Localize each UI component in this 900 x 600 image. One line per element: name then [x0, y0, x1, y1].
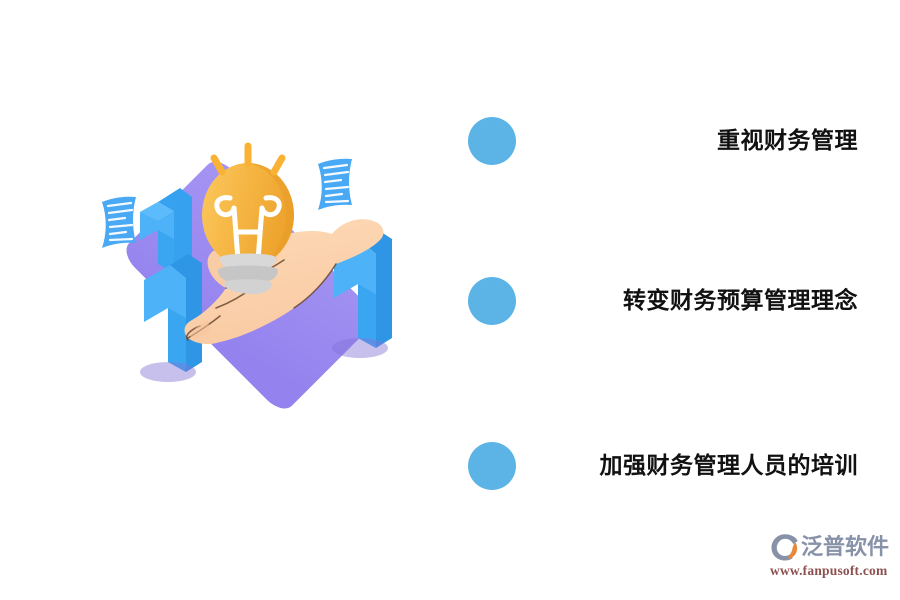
bullet-dot-icon — [468, 277, 516, 325]
watermark-brand-row: 泛普软件 — [770, 530, 890, 564]
document-right — [318, 159, 352, 210]
list-item[interactable]: 转变财务预算管理理念 — [468, 275, 868, 327]
list-item[interactable]: 加强财务管理人员的培训 — [468, 440, 868, 492]
watermark-url-text: www.fanpusoft.com — [770, 563, 890, 579]
watermark-logo: 泛普软件 www.fanpusoft.com — [770, 530, 890, 588]
fanpu-logo-icon — [770, 532, 800, 562]
watermark-brand-text: 泛普软件 — [801, 532, 889, 562]
list-item-label: 转变财务预算管理理念 — [516, 287, 868, 315]
infographic-canvas: 重视财务管理 转变财务预算管理理念 加强财务管理人员的培训 泛普软件 www.f… — [0, 0, 900, 600]
bullet-dot-icon — [468, 442, 516, 490]
list-item-label: 重视财务管理 — [516, 127, 868, 155]
document-left — [102, 197, 136, 248]
bullet-dot-icon — [468, 117, 516, 165]
list-item[interactable]: 重视财务管理 — [468, 115, 868, 167]
list-item-label: 加强财务管理人员的培训 — [516, 452, 868, 480]
hand-holding-lightbulb-illustration — [40, 140, 460, 440]
